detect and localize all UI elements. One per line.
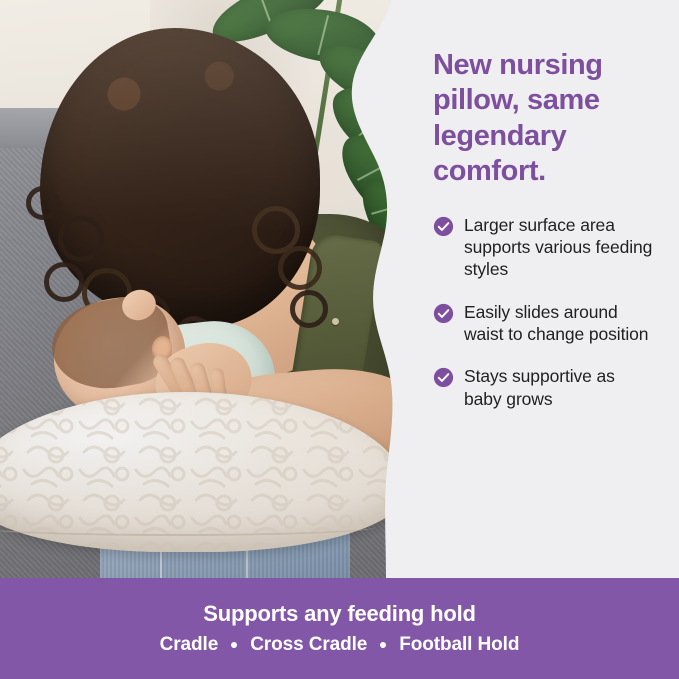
product-feature-image: New nursing pillow, same legendary comfo… [0,0,679,679]
check-circle-icon [433,303,454,324]
feature-list: Larger surface area supports various fee… [433,214,657,411]
text-content: New nursing pillow, same legendary comfo… [433,48,657,410]
lifestyle-photo [0,0,420,579]
footer-title: Supports any feeding hold [203,601,475,627]
hair-curl [278,246,322,290]
feeding-hold-label: Cross Cradle [250,634,367,656]
feature-text: Larger surface area supports various fee… [464,214,657,281]
hair-curl [290,290,328,328]
hair-curl [58,216,104,262]
check-circle-icon [433,367,454,388]
hair-curl [44,262,84,302]
list-item: Easily slides around waist to change pos… [433,301,657,346]
photo-scene [0,0,420,579]
feeding-hold-list: Cradle Cross Cradle Football Hold [160,634,520,656]
list-item: Larger surface area supports various fee… [433,214,657,281]
page-title: New nursing pillow, same legendary comfo… [433,48,657,190]
shirt-button [332,318,339,325]
separator-dot-icon [231,642,237,648]
check-circle-icon [433,216,454,237]
hair-curl [26,186,60,220]
separator-dot-icon [380,642,386,648]
footer-banner: Supports any feeding hold Cradle Cross C… [0,578,679,679]
feature-text: Easily slides around waist to change pos… [464,301,657,346]
feeding-hold-label: Cradle [160,634,219,656]
list-item: Stays supportive as baby grows [433,365,657,410]
feeding-hold-label: Football Hold [399,634,519,656]
feature-text: Stays supportive as baby grows [464,365,657,410]
